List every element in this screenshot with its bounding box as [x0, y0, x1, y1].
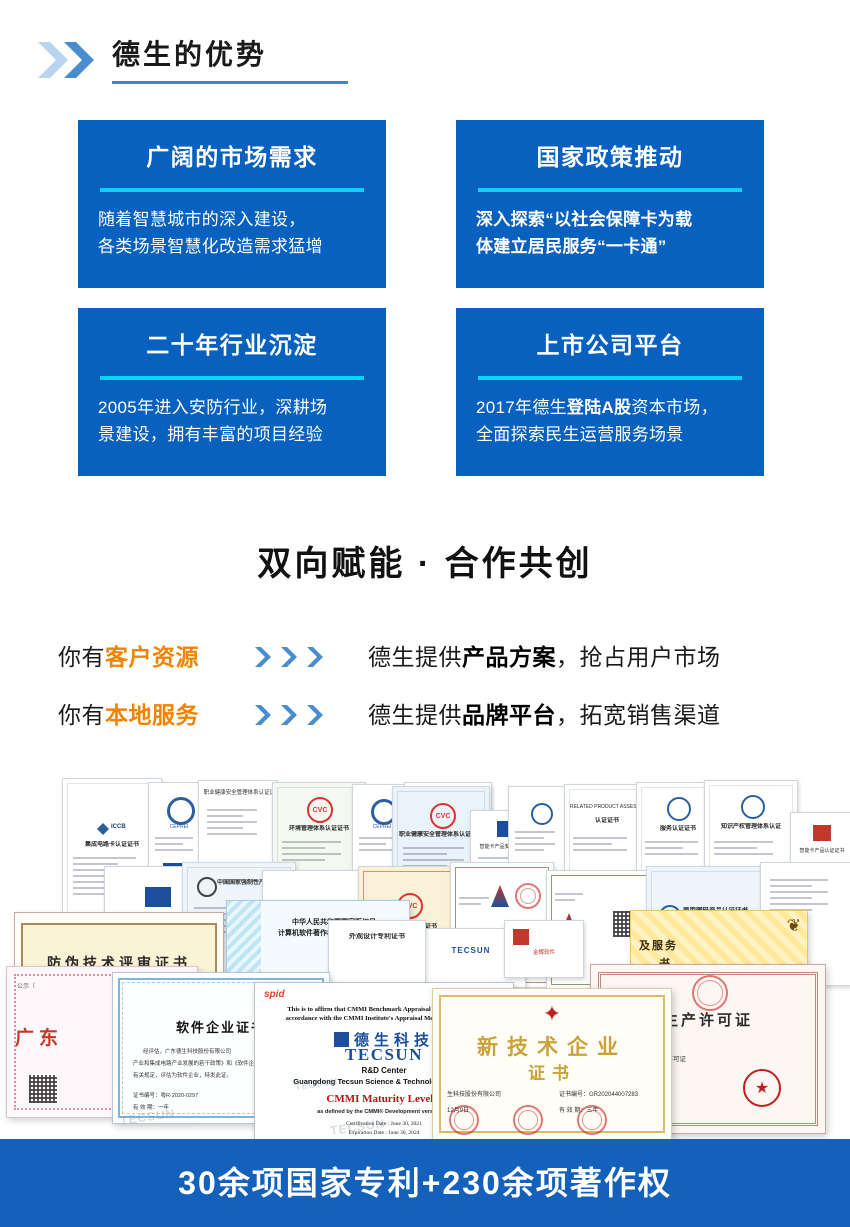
ccc-logo-icon [197, 877, 217, 897]
cert-note: 公示（ [17, 981, 35, 990]
empower-row: 你有客户资源 德生提供产品方案，抢占用户市场 [0, 628, 850, 686]
cert-logo-text: RELATED PRODUCT ASSESSMENT [570, 803, 644, 811]
card-body: 2017年德生登陆A股资本市场， 全面探索民生运营服务场景 [476, 394, 746, 448]
cert-text-lines [207, 809, 269, 839]
empower-row-left: 你有客户资源 [58, 628, 199, 686]
cert-no-value: GR202044007283 [589, 1092, 638, 1098]
qr-code [29, 1075, 57, 1103]
cert-title: 及服务 [639, 937, 678, 953]
empower-right-suffix: ，抢占用户市场 [556, 644, 721, 670]
chevron-right-icon [304, 644, 326, 670]
chevron-right-icon [278, 644, 300, 670]
card-body-segment: 资本市场， [631, 398, 718, 417]
empower-right-prefix: 德生提供 [368, 702, 462, 728]
chevron-pair [36, 40, 108, 80]
cert-no-label: 证书编号： [559, 1092, 589, 1098]
ornament-icon: ❦ [787, 917, 801, 934]
empower-row-left: 你有本地服务 [58, 686, 199, 744]
advantage-card-grid: 广阔的市场需求 随着智慧城市的深入建设， 各类场景智慧化改造需求猛增 国家政策推… [0, 120, 850, 485]
card-body-line: 各类场景智慧化改造需求猛增 [98, 233, 368, 260]
card-title: 国家政策推动 [456, 142, 764, 172]
cert-title: 认证证书 [570, 817, 644, 825]
chevron-right-icon [278, 702, 300, 728]
cert-title: 环境管理体系认证证书 [279, 825, 360, 833]
page-title: 德生的优势 [112, 32, 267, 78]
cert-subtitle: 证书 [433, 1059, 671, 1084]
advantage-card[interactable]: 二十年行业沉淀 2005年进入安防行业，深耕场 景建设，拥有丰富的项目经验 [78, 308, 386, 476]
card-body-line: 随着智慧城市的深入建设， [98, 206, 368, 233]
empower-left-prefix: 你有 [58, 702, 105, 728]
card-body-segment: 2017年德生 [476, 398, 567, 417]
cert-line: 产业和集成电路产业发展的若干政策》和《软件企业评估 [133, 1059, 271, 1067]
certificate-collage: ICCB 集成电路卡认证证书 CEPREI 职业健康安全管理体系认证证书 广东德… [0, 770, 850, 1145]
empower-row-right: 德生提供产品方案，抢占用户市场 [368, 628, 721, 686]
cert-title: 新技术企业 [433, 1031, 671, 1061]
cnas-logo-icon [167, 797, 195, 825]
cert-title: 知识产权管理体系认证 [711, 823, 792, 831]
red-seal-icon [515, 883, 541, 909]
card-divider [100, 188, 364, 192]
seal-icon [741, 795, 765, 819]
empower-right-prefix: 德生提供 [368, 644, 462, 670]
cert-text-lines [459, 897, 497, 909]
flame-icon: ✦ [543, 1003, 561, 1025]
cert-title: 集成电路卡认证证书 [69, 841, 155, 849]
certificate-thumb[interactable]: 外观设计专利证书 [328, 920, 426, 984]
empower-right-bold: 品牌平台 [462, 702, 556, 728]
cert-title: 广东 [15, 1023, 63, 1050]
card-body-line: 2017年德生登陆A股资本市场， [476, 394, 746, 421]
card-title: 二十年行业沉淀 [78, 330, 386, 360]
chevron-right-icon [304, 702, 326, 728]
cert-text-lines [714, 841, 788, 859]
bottom-banner: 30余项国家专利+230余项著作权 [0, 1139, 850, 1227]
chevron-right-icon [252, 702, 274, 728]
card-body: 2005年进入安防行业，深耕场 景建设，拥有丰富的项目经验 [98, 394, 368, 448]
empower-right-bold: 产品方案 [462, 644, 556, 670]
advantage-card[interactable]: 广阔的市场需求 随着智慧城市的深入建设， 各类场景智慧化改造需求猛增 [78, 120, 386, 288]
empower-right-suffix: ，拓宽销售渠道 [556, 702, 721, 728]
cert-number: 证书编号：粤R-2020-0297 [133, 1091, 198, 1099]
advantage-card[interactable]: 上市公司平台 2017年德生登陆A股资本市场， 全面探索民生运营服务场景 [456, 308, 764, 476]
cvc-logo-icon: CVC [307, 797, 333, 823]
card-body-emphasis: 登陆A股 [567, 398, 631, 417]
card-body-line: 体建立居民服务“一卡通” [476, 233, 746, 260]
badge-icon [813, 825, 831, 841]
arrow-chevrons [252, 686, 326, 744]
cert-text-lines [155, 837, 203, 855]
cert-line: 经评估，广东德生科技股份有限公司 [143, 1047, 231, 1055]
card-title: 广阔的市场需求 [78, 142, 386, 172]
cert-title: 外观设计专利证书 [335, 933, 420, 941]
card-divider [478, 376, 742, 380]
cert-text-lines [573, 837, 640, 855]
certificate-hightech[interactable]: ✦ 新技术企业 证书 生科技股份有限公司 12月9日 证书编号：GR202044… [432, 988, 672, 1140]
cert-number-label: 证书编号：GR202044007283 [559, 1089, 638, 1098]
cnas-badge-icon [145, 887, 171, 907]
card-body: 随着智慧城市的深入建设， 各类场景智慧化改造需求猛增 [98, 206, 368, 260]
spid-logo-icon: spid [264, 989, 285, 1000]
cert-title: 智能卡产品认证证书 [795, 847, 850, 855]
section-subtitle: 双向赋能 · 合作共创 [0, 538, 850, 590]
card-divider [100, 376, 364, 380]
card-body-line: 全面探索民生运营服务场景 [476, 421, 746, 448]
chevron-right-icon-dark [62, 40, 96, 80]
advantage-card[interactable]: 国家政策推动 深入探索“以社会保障卡为载 体建立居民服务“一卡通” [456, 120, 764, 288]
cert-company: 生科技股份有限公司 [447, 1089, 501, 1098]
cert-text-lines [515, 831, 565, 855]
card-body-line: 深入探索“以社会保障卡为载 [476, 206, 746, 233]
cert-line: 有关规定，评估为软件企业，特发此证。 [133, 1071, 232, 1079]
kingsoft-logo-icon [513, 929, 529, 945]
card-title: 上市公司平台 [456, 330, 764, 360]
card-body: 深入探索“以社会保障卡为载 体建立居民服务“一卡通” [476, 206, 746, 260]
title-underline [112, 81, 348, 84]
empower-left-prefix: 你有 [58, 644, 105, 670]
cert-logo-text: 金蝶软件 [510, 949, 579, 957]
seal-icon [667, 797, 691, 821]
red-seal-icon [449, 1105, 479, 1135]
red-seal-icon [577, 1105, 607, 1135]
banner-text: 30余项国家专利+230余项著作权 [0, 1139, 850, 1227]
chevron-right-icon [252, 644, 274, 670]
empower-row-right: 德生提供品牌平台，拓宽销售渠道 [368, 686, 721, 744]
arrow-chevrons [252, 628, 326, 686]
red-seal-icon [513, 1105, 543, 1135]
red-seal-icon [692, 975, 728, 1011]
certificate-thumb[interactable]: 金蝶软件 [504, 920, 584, 978]
national-emblem-seal-icon: ★ [743, 1069, 781, 1107]
empower-row: 你有本地服务 德生提供品牌平台，拓宽销售渠道 [0, 686, 850, 744]
empower-left-highlight: 本地服务 [105, 702, 199, 728]
cert-text-lines [645, 841, 711, 859]
card-divider [478, 188, 742, 192]
cert-title: 职业健康安全管理体系认证证书 [204, 789, 273, 797]
cert-text-lines [555, 893, 590, 905]
section-header: 德生的优势 [0, 28, 850, 92]
empower-rows: 你有客户资源 德生提供产品方案，抢占用户市场 你有本地服务 德生提供品牌平台，拓… [0, 628, 850, 744]
empower-left-highlight: 客户资源 [105, 644, 199, 670]
cvc-logo-icon: CVC [430, 803, 456, 829]
cqc-logo-icon [531, 803, 553, 825]
card-body-line: 2005年进入安防行业，深耕场 [98, 394, 368, 421]
card-body-line: 景建设，拥有丰富的项目经验 [98, 421, 368, 448]
